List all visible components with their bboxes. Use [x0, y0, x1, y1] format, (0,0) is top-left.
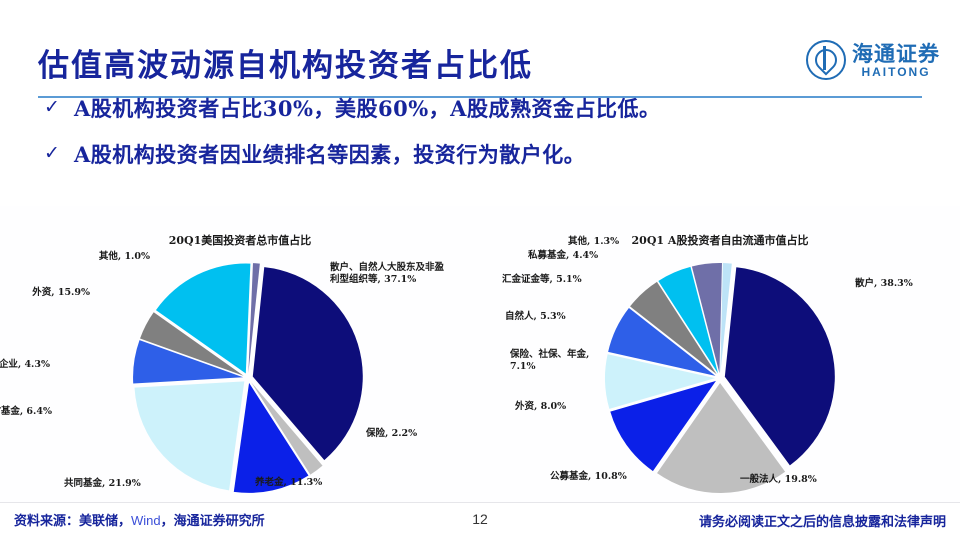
- pie-slice-label: 汇金证金等, 5.1%: [502, 274, 582, 286]
- pie-slice-label: 共同基金, 21.9%: [64, 478, 141, 490]
- pie-slice-label: 散户、自然人大股东及非盈 利型组织等, 37.1%: [330, 262, 444, 286]
- pie-slice-label: 外资, 15.9%: [32, 287, 90, 299]
- list-item: ✓ A股机构投资者因业绩排名等因素，投资行为散户化。: [44, 142, 924, 168]
- bullet-text: A股机构投资者因业绩排名等因素，投资行为散户化。: [74, 142, 585, 168]
- pie-slice-label: 其他, 1.0%: [99, 251, 150, 263]
- chart-a-share-investor-freefloat: 20Q1 A股投资者自由流通市值占比 散户, 38.3%一般法人, 19.8%公…: [480, 206, 960, 502]
- haitong-circle-logo-icon: [806, 40, 846, 80]
- footer-divider: [0, 502, 960, 503]
- checkmark-icon: ✓: [44, 96, 74, 118]
- bullet-text: A股机构投资者占比30%，美股60%，A股成熟资金占比低。: [74, 96, 660, 122]
- pie-slice-label: 散户, 38.3%: [855, 278, 913, 290]
- pie-slice-label: 非金融企业, 4.3%: [0, 359, 50, 371]
- logo-chinese-name: 海通证券: [852, 43, 940, 64]
- slide: 估值高波动源自机构投资者占比低 海通证券 HAITONG ✓ A股机构投资者占比…: [0, 0, 960, 540]
- pie-slice-label: 公募基金, 10.8%: [550, 471, 627, 483]
- slide-header: 估值高波动源自机构投资者占比低 海通证券 HAITONG: [0, 18, 960, 82]
- pie-slice: [135, 381, 245, 490]
- pie-slice-label: 养老金, 11.3%: [255, 477, 322, 489]
- pie-slice-label: 私募基金, 4.4%: [528, 250, 598, 262]
- page-title: 估值高波动源自机构投资者占比低: [38, 40, 533, 85]
- list-item: ✓ A股机构投资者占比30%，美股60%，A股成熟资金占比低。: [44, 96, 924, 122]
- logo-text: 海通证券 HAITONG: [852, 43, 940, 78]
- chart-us-investor-marketcap: 20Q1美国投资者总市值占比 散户、自然人大股东及非盈 利型组织等, 37.1%…: [0, 206, 480, 502]
- checkmark-icon: ✓: [44, 142, 74, 164]
- charts-panel: 20Q1美国投资者总市值占比 散户、自然人大股东及非盈 利型组织等, 37.1%…: [0, 206, 960, 502]
- disclaimer-note: 请务必阅读正文之后的信息披露和法律声明: [699, 511, 946, 530]
- logo-english-name: HAITONG: [861, 66, 930, 78]
- pie-slice-label: 保险、社保、年金, 7.1%: [510, 349, 589, 373]
- pie-slice-label: 一般法人, 19.8%: [740, 474, 817, 486]
- pie-slice-label: 自然人, 5.3%: [505, 311, 566, 323]
- bullet-list: ✓ A股机构投资者占比30%，美股60%，A股成熟资金占比低。 ✓ A股机构投资…: [44, 96, 924, 189]
- pie-chart: 散户, 38.3%一般法人, 19.8%公募基金, 10.8%外资, 8.0%保…: [480, 206, 960, 502]
- pie-svg: [0, 206, 480, 502]
- pie-slice-label: 其他, 1.3%: [568, 236, 619, 248]
- pie-slice-label: ETF基金, 6.4%: [0, 406, 52, 418]
- pie-slice-label: 外资, 8.0%: [515, 401, 566, 413]
- haitong-logo: 海通证券 HAITONG: [806, 40, 940, 80]
- pie-slice-label: 保险, 2.2%: [366, 428, 417, 440]
- pie-chart: 散户、自然人大股东及非盈 利型组织等, 37.1%保险, 2.2%养老金, 11…: [0, 206, 480, 502]
